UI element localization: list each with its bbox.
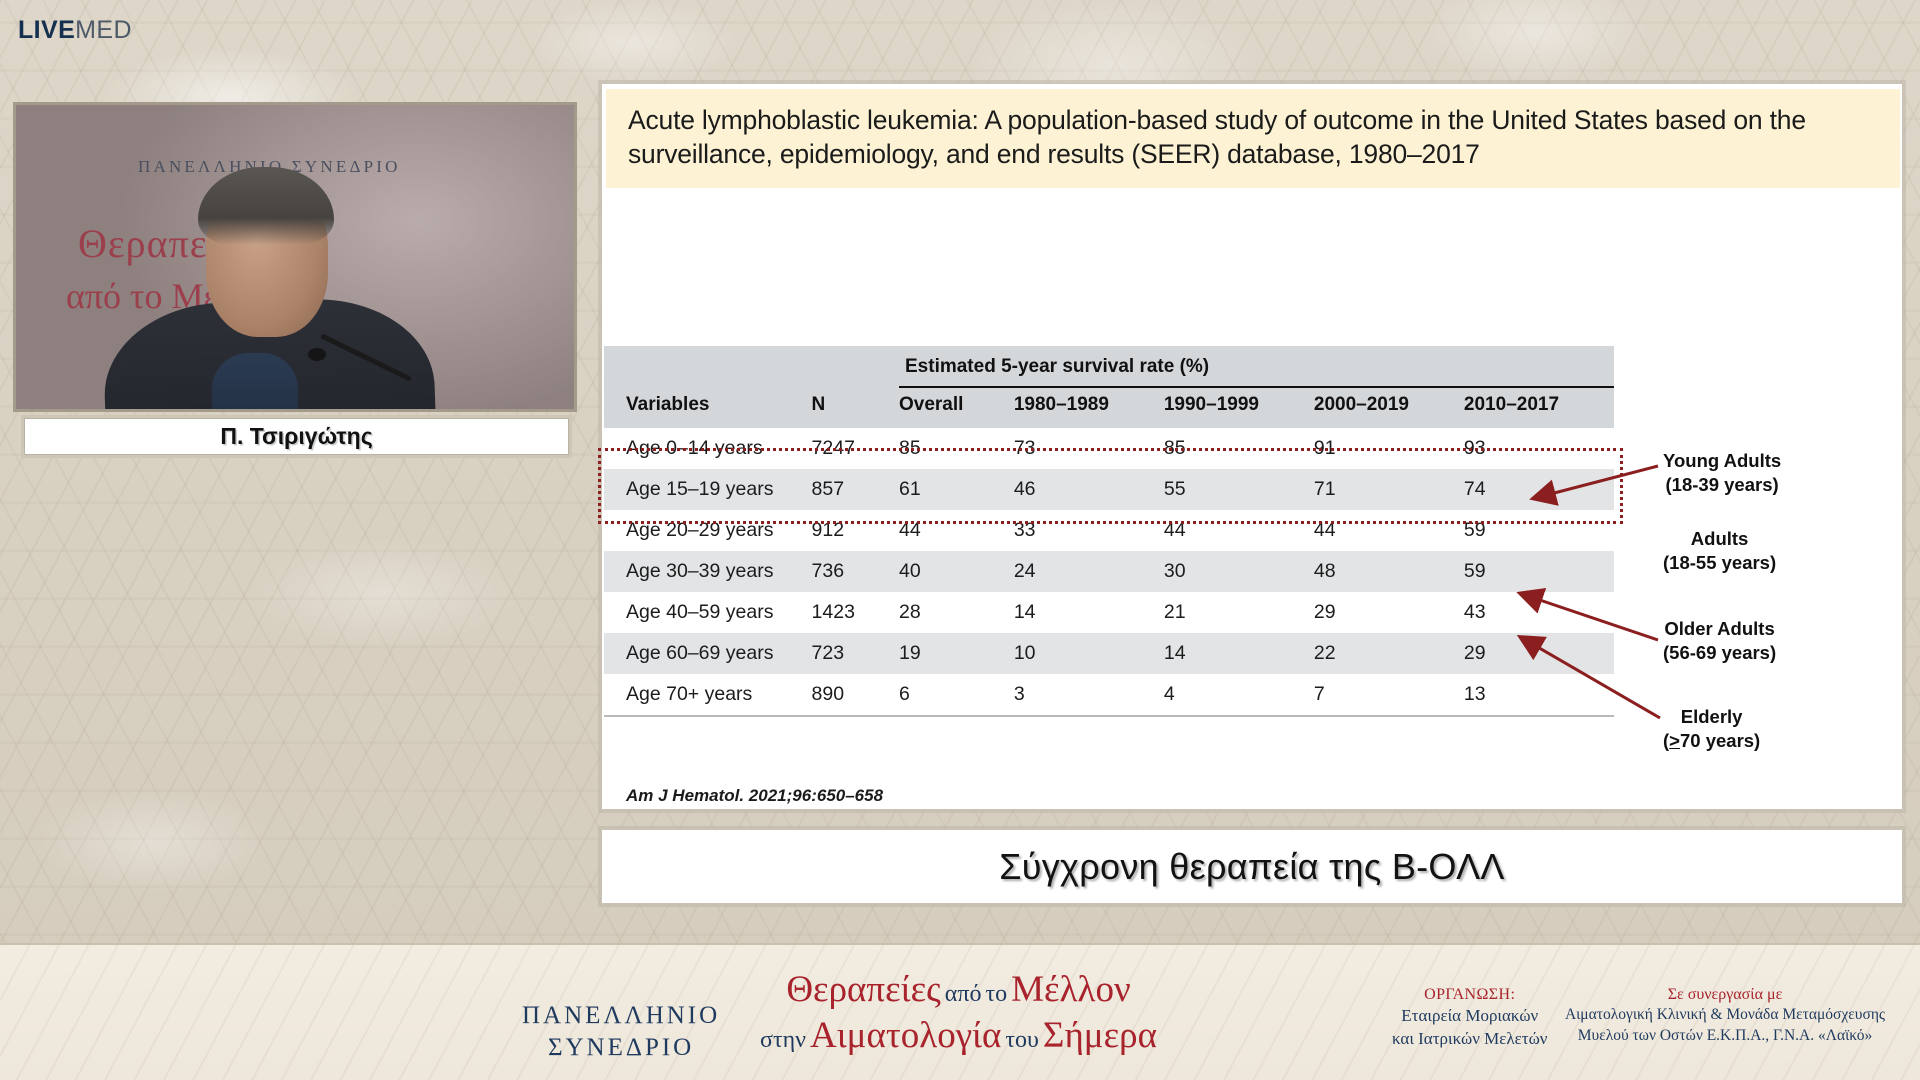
cell-1990: 44 [1164, 510, 1314, 551]
slide-title-text: Acute lymphoblastic leukemia: A populati… [628, 103, 1882, 172]
cell-n: 857 [812, 469, 899, 510]
footer-theme-today: Σήμερα [1043, 1015, 1157, 1056]
cell-variable: Age 15–19 years [604, 469, 812, 510]
cell-n: 890 [812, 674, 899, 716]
footer-theme-the2: του [1005, 1027, 1039, 1053]
cell-2000: 29 [1314, 592, 1464, 633]
footer-organizer-line2: και Ιατρικών Μελετών [1392, 1028, 1548, 1051]
footer-organizer-block: ΟΡΓΑΝΩΣΗ: Εταιρεία Μοριακών και Ιατρικών… [1392, 984, 1548, 1051]
logo-live-text: LIVE [18, 16, 75, 44]
table-head: Estimated 5-year survival rate (%) Varia… [604, 346, 1614, 428]
column-header-n: N [812, 388, 899, 428]
cell-1990: 4 [1164, 674, 1314, 716]
cell-2000: 7 [1314, 674, 1464, 716]
annotation-young-adults-line2: (18-39 years) [1663, 473, 1781, 497]
logo-med-text: MED [75, 16, 132, 44]
annotation-older-adults-line2: (56-69 years) [1663, 641, 1776, 665]
footer-theme-the1: το [986, 981, 1008, 1007]
annotation-adults-line1: Adults [1663, 527, 1776, 551]
cell-2010: 29 [1464, 633, 1614, 674]
table-row: Age 30–39 years 736 40 24 30 48 59 [604, 551, 1614, 592]
session-title-banner: Σύγχρονη θεραπεία της Β-ΟΛΛ [601, 829, 1903, 904]
group-header-survival: Estimated 5-year survival rate (%) [899, 346, 1614, 388]
microphone-icon [308, 348, 326, 361]
cell-2010: 74 [1464, 469, 1614, 510]
footer-cooperation-line1: Αιματολογική Κλινική & Μονάδα Μεταμόσχευ… [1540, 1005, 1910, 1026]
cell-variable: Age 40–59 years [604, 592, 812, 633]
cell-overall: 61 [899, 469, 1014, 510]
table-body: Age 0–14 years 7247 85 73 85 91 93 Age 1… [604, 428, 1614, 716]
annotation-elderly-rest: 70 years) [1680, 730, 1760, 751]
annotation-elderly-line1: Elderly [1663, 705, 1760, 729]
table-row: Age 70+ years 890 6 3 4 7 13 [604, 674, 1614, 716]
slide-viewer-page: LIVEMED ΠΑΝΕΛΛΗΝΙΟ ΣΥΝΕΔΡΙΟ Θεραπείες απ… [0, 0, 1920, 1080]
cell-1980: 73 [1014, 428, 1164, 469]
column-header-1980-1989: 1980–1989 [1014, 388, 1164, 428]
cell-variable: Age 30–39 years [604, 551, 812, 592]
greater-equal-icon: > [1669, 730, 1680, 751]
table-row: Age 40–59 years 1423 28 14 21 29 43 [604, 592, 1614, 633]
speaker-shirt [212, 353, 298, 412]
cell-1980: 33 [1014, 510, 1164, 551]
footer-theme-from: από [945, 981, 982, 1007]
footer-theme-row1: Θεραπείες από το Μέλλον [760, 968, 1157, 1012]
footer-theme-in: στην [760, 1027, 806, 1053]
cell-1990: 85 [1164, 428, 1314, 469]
cell-n: 723 [812, 633, 899, 674]
table-row: Age 60–69 years 723 19 10 14 22 29 [604, 633, 1614, 674]
cell-variable: Age 70+ years [604, 674, 812, 716]
cell-2010: 93 [1464, 428, 1614, 469]
slide-title-banner: Acute lymphoblastic leukemia: A populati… [606, 89, 1900, 188]
survival-table-wrapper: Estimated 5-year survival rate (%) Varia… [604, 346, 1614, 717]
cell-overall: 44 [899, 510, 1014, 551]
footer-theme-hematology: Αιματολογία [810, 1015, 1001, 1056]
table-group-header-row: Estimated 5-year survival rate (%) [604, 346, 1614, 388]
cell-2010: 59 [1464, 551, 1614, 592]
cell-overall: 6 [899, 674, 1014, 716]
cell-2010: 13 [1464, 674, 1614, 716]
cell-1990: 14 [1164, 633, 1314, 674]
annotation-elderly: Elderly (>70 years) [1663, 705, 1760, 753]
cell-1980: 3 [1014, 674, 1164, 716]
speaker-hair [198, 167, 334, 245]
footer-theme-block: Θεραπείες από το Μέλλον στην Αιματολογία… [760, 968, 1157, 1057]
survival-rate-table: Estimated 5-year survival rate (%) Varia… [604, 346, 1614, 717]
table-row: Age 0–14 years 7247 85 73 85 91 93 [604, 428, 1614, 469]
cell-n: 1423 [812, 592, 899, 633]
cell-1980: 14 [1014, 592, 1164, 633]
cell-overall: 19 [899, 633, 1014, 674]
cell-1980: 46 [1014, 469, 1164, 510]
table-column-header-row: Variables N Overall 1980–1989 1990–1999 … [604, 388, 1614, 428]
cell-2010: 43 [1464, 592, 1614, 633]
column-header-2000-2019: 2000–2019 [1314, 388, 1464, 428]
livemed-logo: LIVEMED [18, 18, 132, 43]
cell-2000: 91 [1314, 428, 1464, 469]
column-header-2010-2017: 2010–2017 [1464, 388, 1614, 428]
cell-2000: 44 [1314, 510, 1464, 551]
footer-theme-therapies: Θεραπείες [786, 969, 940, 1010]
footer-cooperation-line2: Μυελού των Οστών Ε.Κ.Π.Α., Γ.Ν.Α. «Λαϊκό… [1540, 1026, 1910, 1047]
cell-n: 736 [812, 551, 899, 592]
footer-cooperation-heading: Σε συνεργασία με [1540, 984, 1910, 1005]
footer-theme-row2: στην Αιματολογία του Σήμερα [760, 1014, 1157, 1058]
group-header-label: Estimated 5-year survival rate (%) [899, 346, 1614, 384]
annotation-elderly-line2: (>70 years) [1663, 729, 1760, 753]
cell-1990: 21 [1164, 592, 1314, 633]
footer-divider [0, 943, 1920, 945]
annotation-older-adults-line1: Older Adults [1663, 617, 1776, 641]
speaker-name-label: Π. Τσιριγώτης [220, 423, 372, 450]
group-header-spacer-variables [604, 346, 812, 388]
table-row: Age 20–29 years 912 44 33 44 44 59 [604, 510, 1614, 551]
column-header-overall: Overall [899, 388, 1014, 428]
annotation-young-adults: Young Adults (18-39 years) [1663, 449, 1781, 497]
speaker-video-panel[interactable]: ΠΑΝΕΛΛΗΝΙΟ ΣΥΝΕΔΡΙΟ Θεραπείες από το Μέλ… [13, 102, 577, 412]
speaker-name-plate: Π. Τσιριγώτης [24, 418, 569, 455]
footer-cooperation-block: Σε συνεργασία με Αιματολογική Κλινική & … [1540, 984, 1910, 1047]
cell-variable: Age 20–29 years [604, 510, 812, 551]
cell-2000: 71 [1314, 469, 1464, 510]
cell-overall: 85 [899, 428, 1014, 469]
cell-n: 7247 [812, 428, 899, 469]
cell-1980: 24 [1014, 551, 1164, 592]
cell-2000: 48 [1314, 551, 1464, 592]
cell-overall: 28 [899, 592, 1014, 633]
footer-congress-line1: ΠΑΝΕΛΛΗΝΙΟ [522, 1000, 720, 1032]
column-header-variables: Variables [604, 388, 812, 428]
footer-organizer-line1: Εταιρεία Μοριακών [1392, 1005, 1548, 1028]
cell-overall: 40 [899, 551, 1014, 592]
source-citation: Am J Hematol. 2021;96:650–658 [626, 786, 883, 806]
footer-congress-block: ΠΑΝΕΛΛΗΝΙΟ ΣΥΝΕΔΡΙΟ [522, 1000, 720, 1064]
cell-n: 912 [812, 510, 899, 551]
video-frame: ΠΑΝΕΛΛΗΝΙΟ ΣΥΝΕΔΡΙΟ Θεραπείες από το Μέλ… [16, 105, 574, 409]
table-row: Age 15–19 years 857 61 46 55 71 74 [604, 469, 1614, 510]
cell-2000: 22 [1314, 633, 1464, 674]
footer-organizer-heading: ΟΡΓΑΝΩΣΗ: [1392, 984, 1548, 1005]
cell-variable: Age 0–14 years [604, 428, 812, 469]
annotation-adults-line2: (18-55 years) [1663, 551, 1776, 575]
footer-theme-future: Μέλλον [1011, 969, 1131, 1010]
footer-congress-line2: ΣΥΝΕΔΡΙΟ [522, 1032, 720, 1064]
annotation-adults: Adults (18-55 years) [1663, 527, 1776, 575]
cell-1990: 30 [1164, 551, 1314, 592]
presentation-slide: Acute lymphoblastic leukemia: A populati… [601, 83, 1903, 810]
annotation-young-adults-line1: Young Adults [1663, 449, 1781, 473]
cell-1980: 10 [1014, 633, 1164, 674]
annotation-older-adults: Older Adults (56-69 years) [1663, 617, 1776, 665]
session-title-text: Σύγχρονη θεραπεία της Β-ΟΛΛ [999, 846, 1505, 888]
column-header-1990-1999: 1990–1999 [1164, 388, 1314, 428]
group-header-spacer-n [812, 346, 899, 388]
cell-2010: 59 [1464, 510, 1614, 551]
cell-1990: 55 [1164, 469, 1314, 510]
cell-variable: Age 60–69 years [604, 633, 812, 674]
